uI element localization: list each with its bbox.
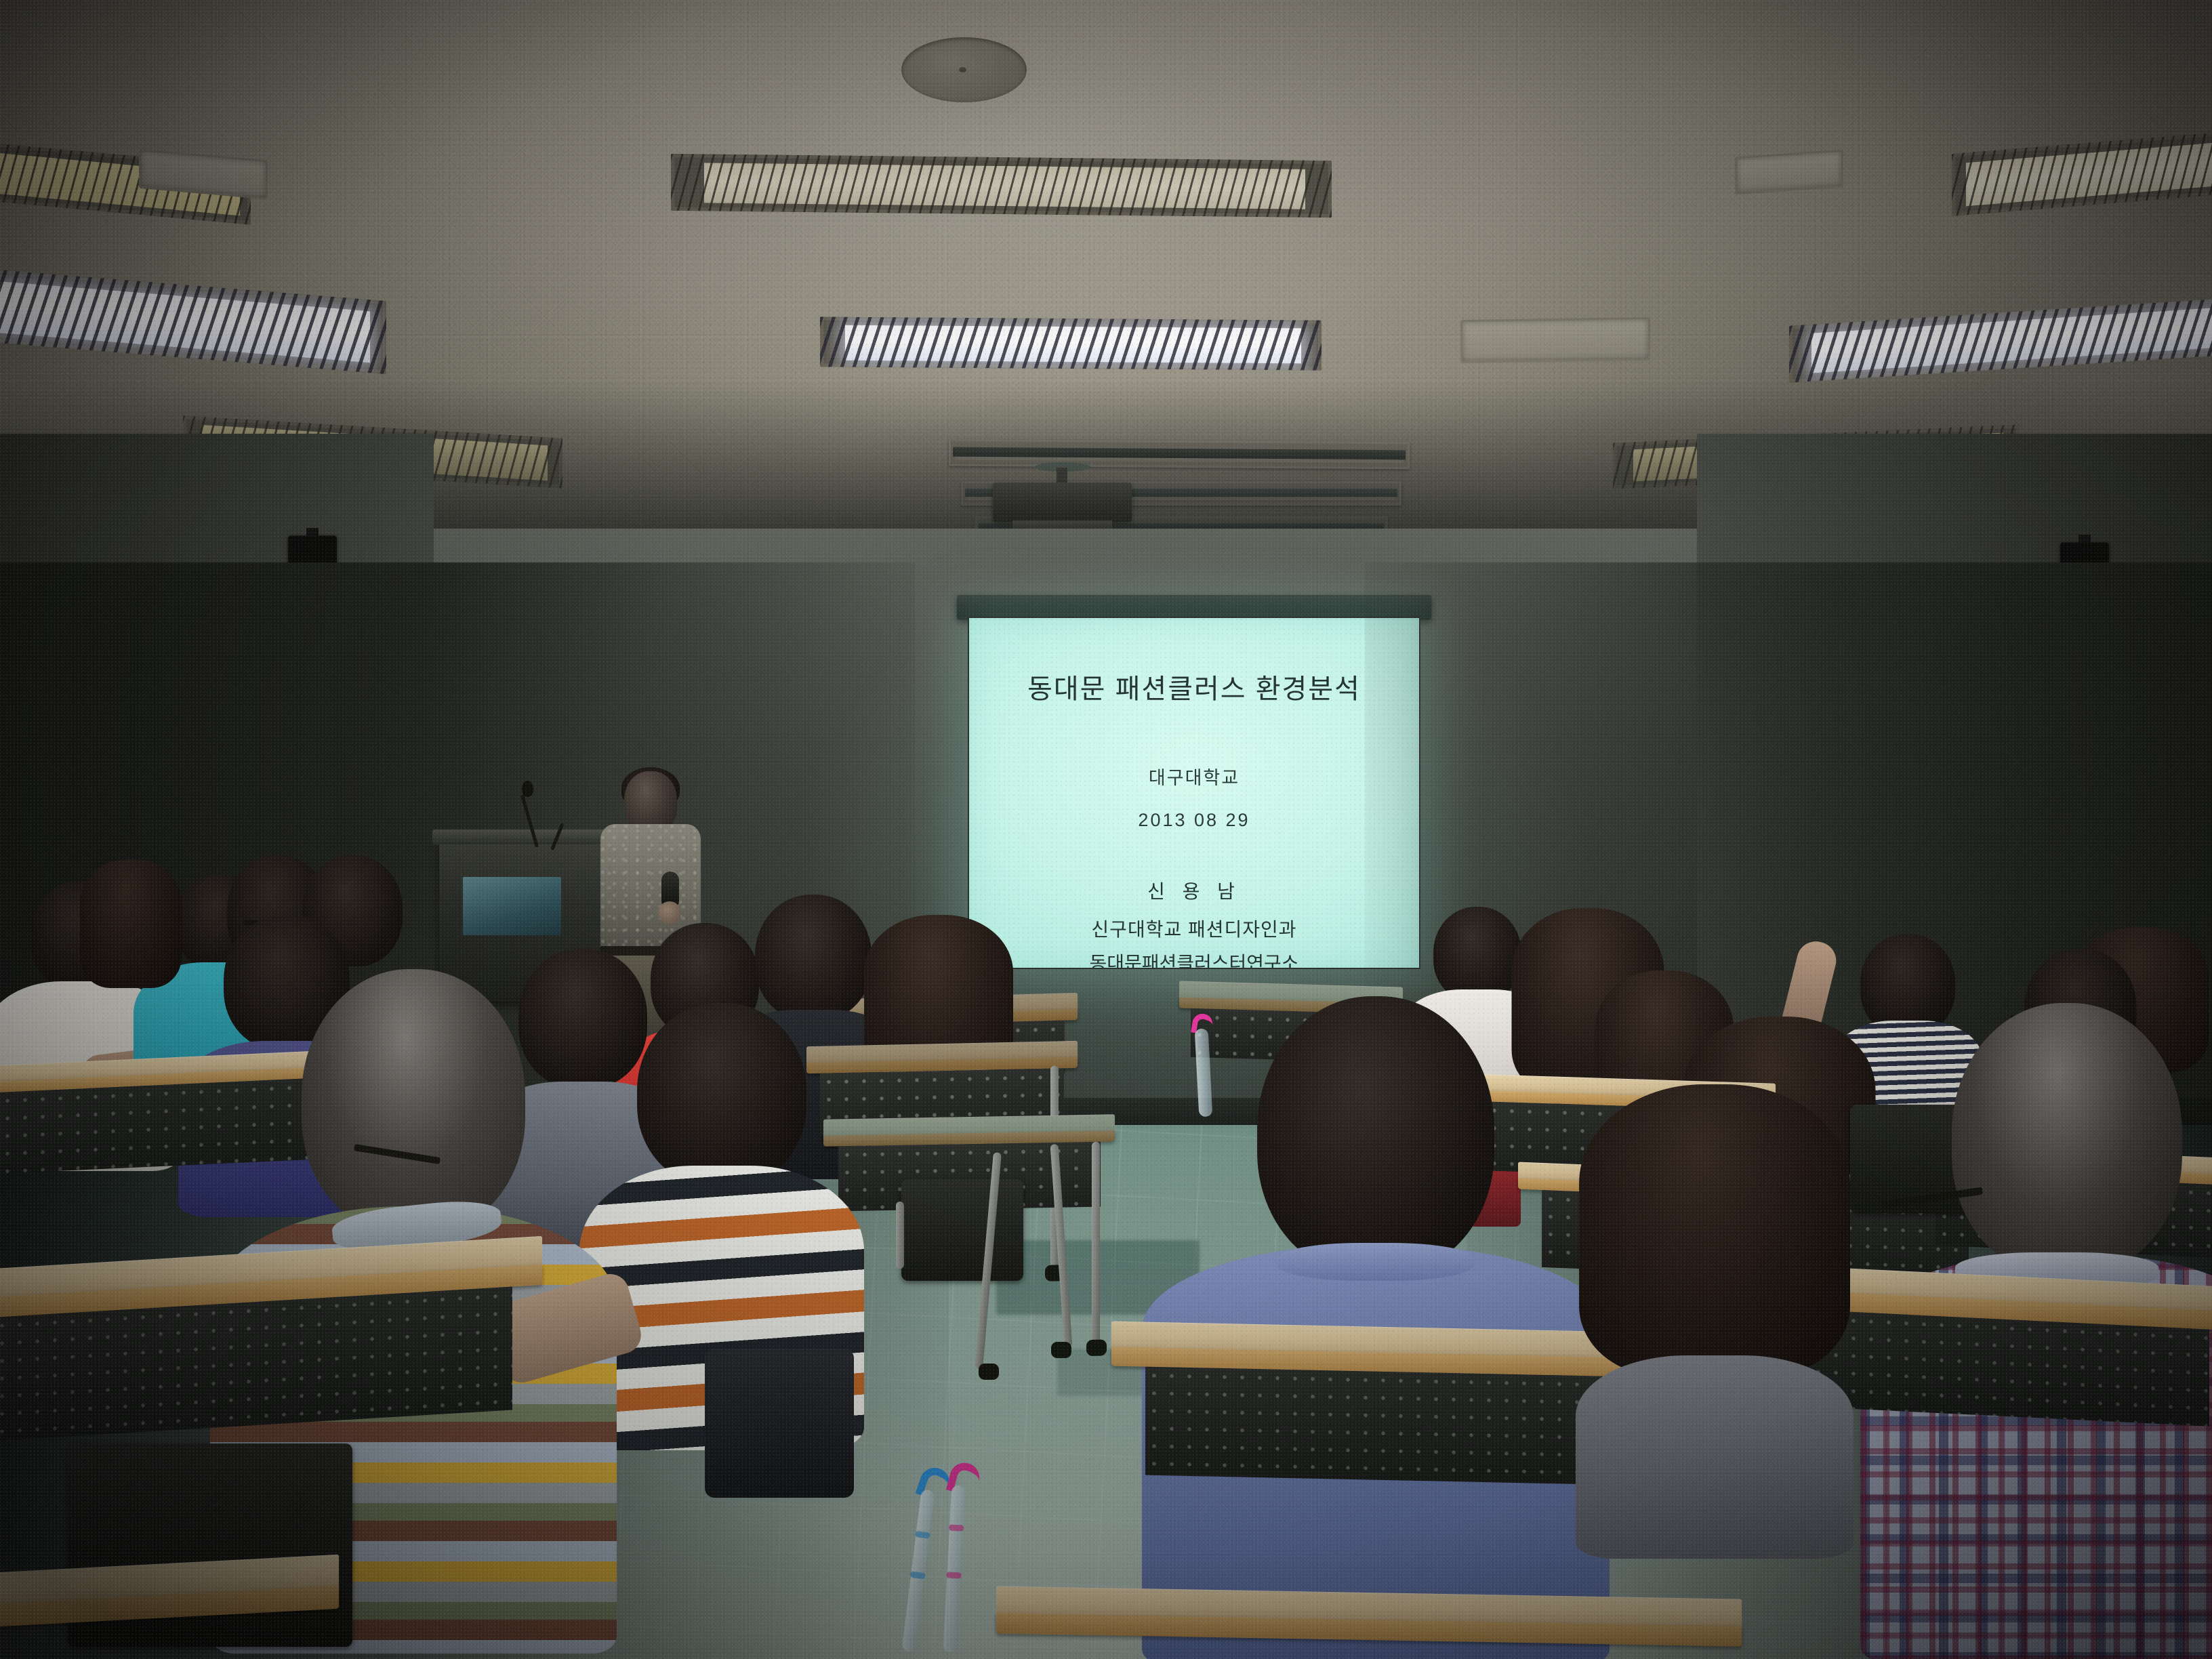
- speaker-center-nub: [959, 67, 966, 73]
- head: [755, 895, 872, 1021]
- projection-screen: 동대문 패션클러스 환경분석 대구대학교 2013 08 29 신 용 남 신구…: [968, 617, 1420, 969]
- presenter-hand: [658, 901, 681, 924]
- slide-affiliation-2: 동대문패션클러스터연구소: [1089, 949, 1298, 969]
- slide-organization: 대구대학교: [1149, 763, 1240, 790]
- polo-collar: [1277, 1243, 1474, 1281]
- chair-rail: [896, 1202, 904, 1269]
- head: [637, 1003, 806, 1186]
- troffer-louver: [671, 154, 1332, 218]
- chair-back: [901, 1179, 1023, 1281]
- desk-caster: [1051, 1342, 1071, 1358]
- slide-presenter-name: 신 용 남: [1147, 877, 1241, 904]
- lecture-hall-photo: 동대문 패션클러스 환경분석 대구대학교 2013 08 29 신 용 남 신구…: [0, 0, 2212, 1659]
- head: [1257, 996, 1494, 1274]
- desk-caster: [979, 1364, 999, 1380]
- troffer-light-center-mid: [820, 316, 1322, 370]
- person-grey-tee-woman-right-foreground: [1572, 1084, 1857, 1559]
- slide-date: 2013 08 29: [1138, 810, 1250, 831]
- umbrella-band: [946, 1572, 961, 1578]
- head: [1433, 907, 1521, 1002]
- slide-affiliation-1: 신구대학교 패션디자인과: [1091, 915, 1296, 942]
- desk-center-bottom: [996, 1586, 1742, 1659]
- troffer-louver: [820, 316, 1322, 370]
- head: [1952, 1003, 2182, 1274]
- hair: [80, 859, 182, 988]
- head: [302, 969, 525, 1233]
- ceiling-speaker-icon: [901, 37, 1027, 102]
- umbrella-band: [949, 1524, 964, 1531]
- speaker-bracket: [306, 528, 318, 536]
- desk-foreground-left: [0, 1236, 542, 1448]
- ceiling-access-panel-center: [1460, 317, 1650, 363]
- chair-center: [901, 1179, 1023, 1281]
- speaker-bracket: [2078, 535, 2090, 543]
- projection-screen-valance: [957, 595, 1431, 619]
- desk-bottom-left: [0, 1555, 339, 1659]
- troffer-light-center-upper: [671, 154, 1332, 218]
- lectern-monitor: [463, 877, 561, 935]
- person-dark-back-left: [80, 859, 182, 1015]
- hair: [1579, 1084, 1850, 1376]
- rugby-man-legs: [705, 1349, 854, 1498]
- desk-caster: [1086, 1339, 1107, 1356]
- desk-leg-group-center-2: [1057, 1144, 1058, 1145]
- podium-microphone-head: [522, 781, 533, 797]
- desk-leg: [1092, 1142, 1100, 1345]
- desk-leg-group-center: [984, 1152, 985, 1153]
- ceiling-access-panel-right: [1735, 149, 1843, 194]
- presentation-slide: 동대문 패션클러스 환경분석 대구대학교 2013 08 29 신 용 남 신구…: [969, 618, 1419, 968]
- torso-grey-tee: [1576, 1355, 1853, 1559]
- slide-title: 동대문 패션클러스 환경분석: [1027, 667, 1361, 706]
